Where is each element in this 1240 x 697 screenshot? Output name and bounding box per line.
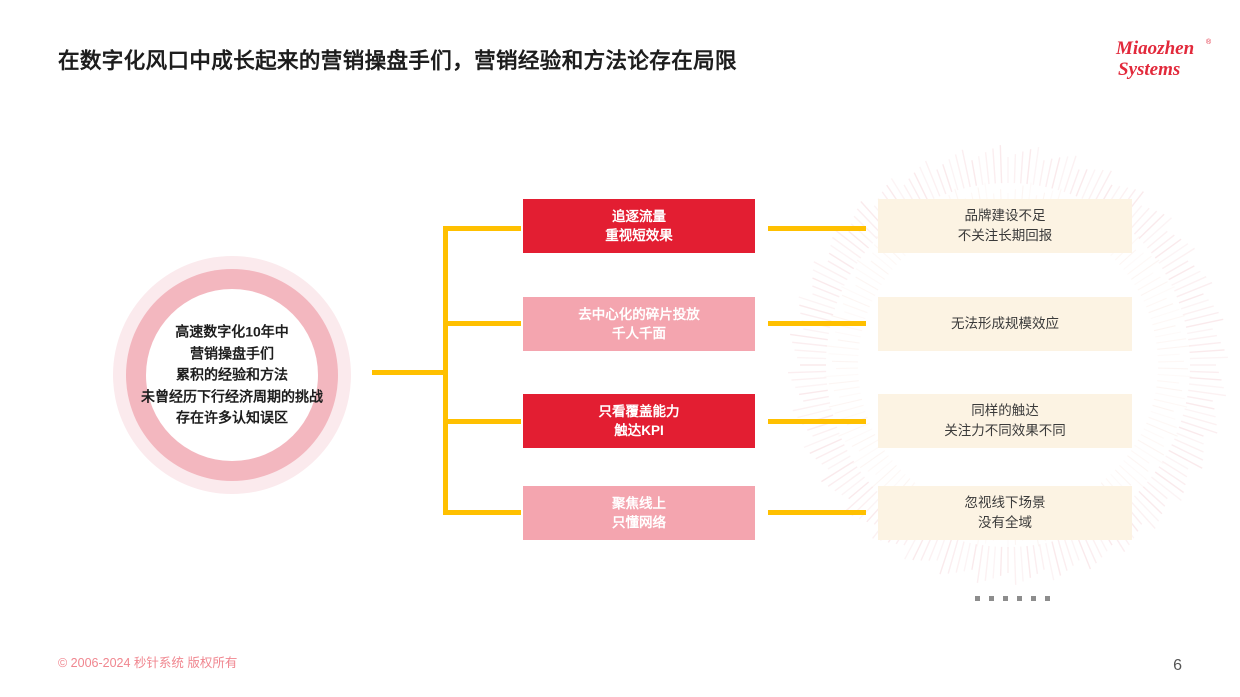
central-line-1: 高速数字化10年中 bbox=[85, 321, 379, 343]
ellipsis-dots bbox=[975, 596, 1050, 601]
middle-box-2-line1: 去中心化的碎片投放 bbox=[578, 305, 700, 324]
logo-text-line1: Miaozhen bbox=[1115, 38, 1194, 59]
connector-right-3 bbox=[768, 419, 866, 424]
right-box-3[interactable]: 同样的触达 关注力不同效果不同 bbox=[878, 394, 1132, 448]
middle-box-1[interactable]: 追逐流量 重视短效果 bbox=[523, 199, 755, 253]
slide-canvas: 在数字化风口中成长起来的营销操盘手们，营销经验和方法论存在局限 Miaozhen… bbox=[0, 0, 1240, 697]
middle-box-1-line1: 追逐流量 bbox=[612, 207, 666, 226]
page-title: 在数字化风口中成长起来的营销操盘手们，营销经验和方法论存在局限 bbox=[58, 44, 737, 75]
page-number: 6 bbox=[1173, 657, 1182, 675]
central-line-5: 存在许多认知误区 bbox=[85, 407, 379, 429]
connector-branch-2 bbox=[443, 321, 521, 326]
connector-branch-4 bbox=[443, 510, 521, 515]
miaozhen-logo: Miaozhen ® Systems bbox=[1114, 33, 1218, 83]
dot-5 bbox=[1031, 596, 1036, 601]
dot-3 bbox=[1003, 596, 1008, 601]
right-box-4[interactable]: 忽视线下场景 没有全域 bbox=[878, 486, 1132, 540]
right-box-1-line2: 不关注长期回报 bbox=[958, 226, 1053, 246]
right-box-2[interactable]: 无法形成规模效应 bbox=[878, 297, 1132, 351]
middle-box-3-line2: 触达KPI bbox=[614, 421, 664, 440]
right-box-1-line1: 品牌建设不足 bbox=[965, 206, 1046, 226]
connector-right-1 bbox=[768, 226, 866, 231]
connector-stem bbox=[372, 370, 448, 375]
middle-box-1-line2: 重视短效果 bbox=[605, 226, 673, 245]
dot-6 bbox=[1045, 596, 1050, 601]
logo-text-line2: Systems bbox=[1118, 59, 1180, 80]
central-circle-text: 高速数字化10年中 营销操盘手们 累积的经验和方法 未曾经历下行经济周期的挑战 … bbox=[85, 321, 379, 429]
middle-box-4[interactable]: 聚焦线上 只懂网络 bbox=[523, 486, 755, 540]
middle-box-2[interactable]: 去中心化的碎片投放 千人千面 bbox=[523, 297, 755, 351]
right-box-2-line1: 无法形成规模效应 bbox=[951, 314, 1059, 334]
dot-2 bbox=[989, 596, 994, 601]
dot-4 bbox=[1017, 596, 1022, 601]
central-circle: 高速数字化10年中 营销操盘手们 累积的经验和方法 未曾经历下行经济周期的挑战 … bbox=[113, 256, 351, 494]
right-box-4-line2: 没有全域 bbox=[978, 513, 1032, 533]
middle-box-4-line2: 只懂网络 bbox=[612, 513, 666, 532]
footer-copyright: © 2006-2024 秒针系统 版权所有 bbox=[58, 652, 237, 671]
right-box-3-line2: 关注力不同效果不同 bbox=[944, 421, 1066, 441]
middle-box-4-line1: 聚焦线上 bbox=[612, 494, 666, 513]
connector-right-4 bbox=[768, 510, 866, 515]
central-line-4: 未曾经历下行经济周期的挑战 bbox=[85, 386, 379, 408]
connector-trunk bbox=[443, 226, 448, 515]
connector-branch-3 bbox=[443, 419, 521, 424]
right-box-4-line1: 忽视线下场景 bbox=[965, 493, 1046, 513]
middle-box-3[interactable]: 只看覆盖能力 触达KPI bbox=[523, 394, 755, 448]
right-box-3-line1: 同样的触达 bbox=[971, 401, 1039, 421]
sunburst-decoration bbox=[778, 115, 1238, 615]
central-line-3: 累积的经验和方法 bbox=[85, 364, 379, 386]
middle-box-3-line1: 只看覆盖能力 bbox=[599, 402, 680, 421]
logo-registered-mark: ® bbox=[1206, 38, 1212, 46]
connector-right-2 bbox=[768, 321, 866, 326]
middle-box-2-line2: 千人千面 bbox=[612, 324, 666, 343]
connector-branch-1 bbox=[443, 226, 521, 231]
dot-1 bbox=[975, 596, 980, 601]
right-box-1[interactable]: 品牌建设不足 不关注长期回报 bbox=[878, 199, 1132, 253]
central-line-2: 营销操盘手们 bbox=[85, 343, 379, 365]
